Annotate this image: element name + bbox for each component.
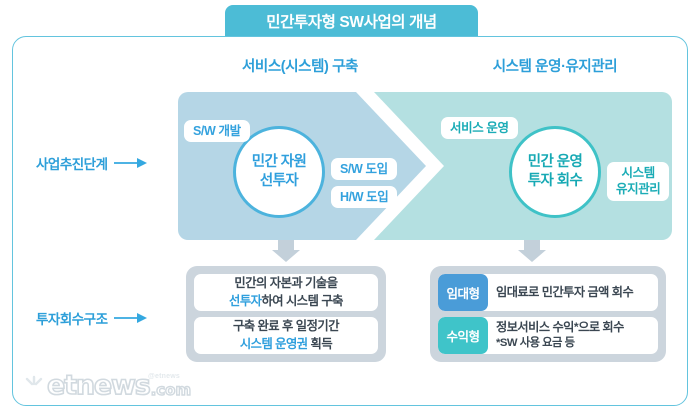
row-profit-text: 정보서비스 수익*으로 회수	[496, 319, 658, 336]
card-build-line2-rest: 하여 시스템 구축	[261, 294, 343, 308]
circle-right-line1: 민간 운영	[528, 153, 582, 172]
label-system-maintenance-line1: 시스템	[616, 165, 660, 182]
label-system-maintenance-line2: 유지관리	[616, 181, 660, 198]
arrow-down-icon	[272, 240, 300, 262]
watermark-etnews: etnews .com @etnews	[24, 372, 191, 399]
card-build-line1: 민간의 자본과 기술을	[229, 275, 343, 292]
row-profit-type: 수익형 정보서비스 수익*으로 회수 *SW 사용 요금 등	[438, 317, 658, 354]
arrow-down-icon	[518, 240, 546, 262]
row-label-stage: 사업추진단계	[36, 153, 148, 173]
panel-investment-structure-left: 민간의 자본과 기술을 선투자하여 시스템 구축 구축 완료 후 일정기간 시스…	[186, 266, 386, 362]
row-label-recoup-text: 투자회수구조	[36, 308, 108, 328]
arrow-right-icon	[114, 157, 148, 169]
card-build-line2: 선투자하여 시스템 구축	[229, 293, 343, 310]
badge-profit-type: 수익형	[438, 317, 488, 354]
circle-left-line1: 민간 자원	[252, 153, 306, 172]
label-system-maintenance: 시스템 유지관리	[607, 162, 669, 201]
card-build-highlight: 선투자	[229, 294, 261, 308]
watermark-tag: @etnews	[148, 373, 180, 380]
row-profit-text-group: 정보서비스 수익*으로 회수 *SW 사용 요금 등	[488, 317, 658, 354]
row-rental-type: 임대형 임대료로 민간투자 금액 회수	[438, 274, 658, 311]
badge-rental-type: 임대형	[438, 274, 488, 311]
card-operation-highlight: 시스템 운영권	[240, 337, 308, 351]
circle-right-line2: 투자 회수	[528, 172, 582, 191]
label-service-operation: 서비스 운영	[441, 117, 518, 139]
row-label-stage-text: 사업추진단계	[36, 153, 108, 173]
label-sw-development: S/W 개발	[184, 120, 250, 142]
section-header-build: 서비스(시스템) 구축	[200, 55, 400, 76]
label-sw-introduction: S/W 도입	[331, 158, 397, 180]
section-header-operate: 시스템 운영·유지관리	[450, 55, 660, 76]
watermark-suffix: .com	[151, 383, 192, 398]
circle-private-operation: 민간 운영 투자 회수	[509, 126, 601, 218]
infographic-root: 민간투자형 SW사업의 개념 서비스(시스템) 구축 시스템 운영·유지관리 사…	[0, 0, 700, 416]
card-operation-line1: 구축 완료 후 일정기간	[233, 318, 339, 335]
row-profit-subtext: *SW 사용 요금 등	[496, 336, 658, 352]
row-label-recoup: 투자회수구조	[36, 308, 148, 328]
label-hw-introduction: H/W 도입	[331, 186, 397, 208]
circle-left-line2: 선투자	[260, 172, 298, 191]
row-rental-text: 임대료로 민간투자 금액 회수	[496, 284, 658, 301]
row-rental-text-group: 임대료로 민간투자 금액 회수	[488, 274, 658, 311]
title-bar: 민간투자형 SW사업의 개념	[225, 5, 478, 36]
card-operation-line2-rest: 획득	[308, 337, 333, 351]
page-title: 민간투자형 SW사업의 개념	[266, 10, 437, 32]
panel-investment-structure-right: 임대형 임대료로 민간투자 금액 회수 수익형 정보서비스 수익*으로 회수 *…	[430, 266, 666, 362]
card-build-system: 민간의 자본과 기술을 선투자하여 시스템 구축	[194, 274, 378, 311]
card-operation-right: 구축 완료 후 일정기간 시스템 운영권 획득	[194, 317, 378, 354]
arrow-right-icon	[114, 312, 148, 324]
etnews-logo-icon	[24, 375, 44, 397]
card-operation-line2: 시스템 운영권 획득	[233, 336, 339, 353]
watermark-word: etnews	[47, 372, 150, 399]
